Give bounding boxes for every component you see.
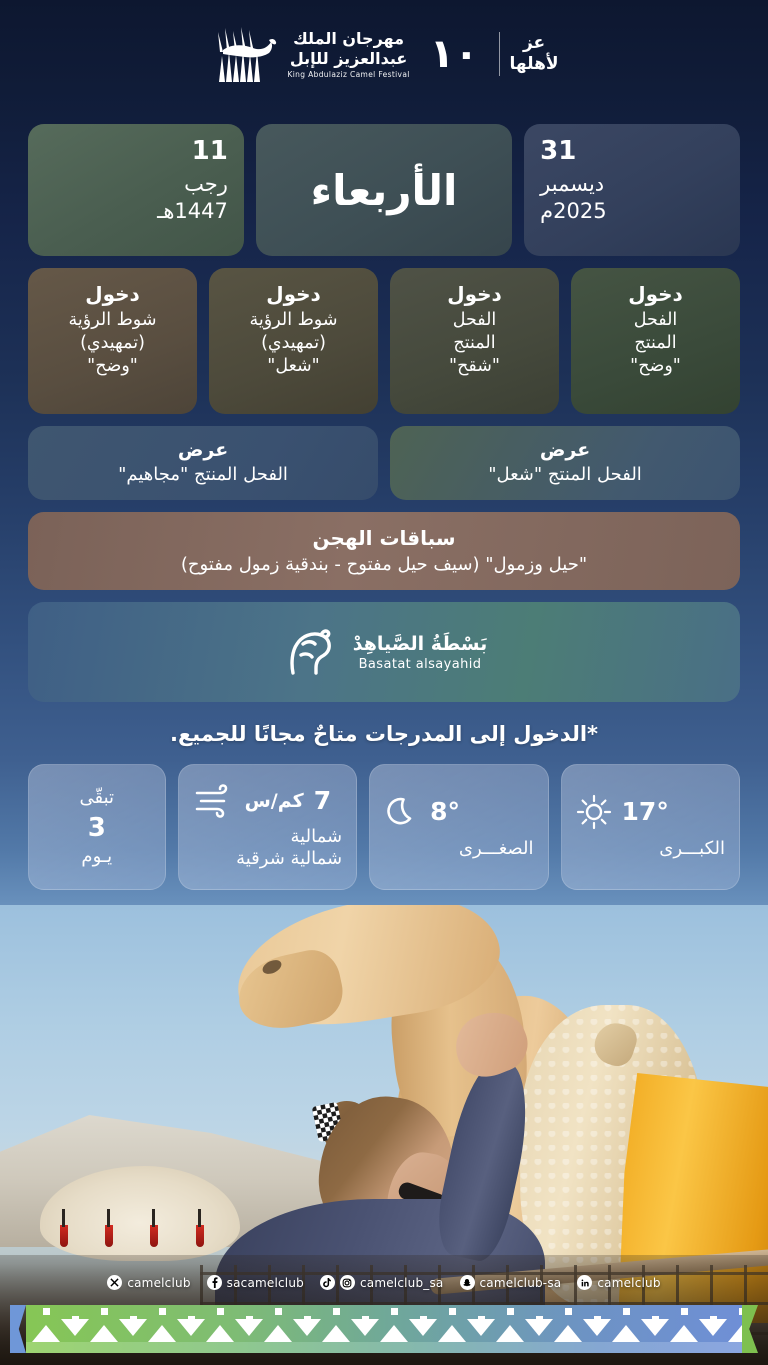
countdown-card: تبقّى 3 يـوم [28, 764, 166, 890]
entry-event-heading: دخول [266, 282, 321, 306]
sadu-triangle [148, 1325, 176, 1342]
countdown-number: 3 [88, 810, 106, 846]
tiktok-icon [320, 1275, 335, 1290]
entry-event-detail: شوط الرؤية (تمهيدي) "شعل" [250, 309, 338, 378]
sadu-square [594, 1316, 601, 1323]
sponsor-row: بَسْطَةُ الصَّياهِدْ Basatat alsayahid [28, 602, 740, 702]
race-row: سباقات الهجن "حيل وزمول" (سيف حيل مفتوح … [28, 512, 740, 590]
camel-herd-icon [209, 26, 277, 82]
x-twitter-icon [107, 1275, 122, 1290]
sadu-decorative-band [10, 1305, 758, 1353]
race-detail: "حيل وزمول" (سيف حيل مفتوح - بندقية زمول… [181, 553, 587, 577]
sadu-square [739, 1308, 742, 1315]
weather-max-value: 17° [622, 799, 669, 824]
sadu-triangle [728, 1325, 742, 1342]
sadu-pattern [26, 1305, 742, 1342]
logo-name-ar-line2: عبدالعزيز للإبل [287, 49, 409, 69]
sadu-square [101, 1308, 108, 1315]
social-link-linkedin[interactable]: camelclub [577, 1275, 660, 1290]
festival-schedule-poster: عز لأهلها ١٠ مهرجان الملك عبدالعزيز للإب… [0, 0, 768, 1365]
hijri-year: 1447هـ [44, 198, 228, 224]
entry-event-heading: دخول [85, 282, 140, 306]
sadu-bottom-stripe [26, 1342, 742, 1353]
sadu-triangle [554, 1325, 582, 1342]
sponsor-name-ar: بَسْطَةُ الصَّياهِدْ [353, 633, 488, 655]
social-handle-linkedin: camelclub [597, 1276, 660, 1290]
sponsor-name-en: Basatat alsayahid [353, 657, 488, 672]
weather-wind-card: 7 كم/س شمالية شمالية شرقية [178, 764, 357, 890]
red-tassel [105, 1225, 113, 1247]
sadu-square [246, 1316, 253, 1323]
sadu-square [565, 1308, 572, 1315]
entry-events-row: دخول الفحل المنتج "وضح" دخول الفحل المنت… [28, 268, 740, 414]
gregorian-day: 31 [540, 138, 724, 165]
logo-edition-number: ١٠ [420, 34, 489, 74]
entry-event-detail: الفحل المنتج "شقح" [449, 309, 500, 378]
social-handle-tiktok-instagram: camelclub_sa [360, 1276, 444, 1290]
gregorian-date-card: 31 ديسمبر 2025م [524, 124, 740, 256]
sadu-triangle [670, 1325, 698, 1342]
hijri-day: 11 [44, 138, 228, 165]
sadu-square [159, 1308, 166, 1315]
sadu-arrow-right [10, 1305, 26, 1353]
sadu-triangle [496, 1325, 524, 1342]
sadu-square [681, 1308, 688, 1315]
show-event-detail: الفحل المنتج "شعل" [488, 463, 642, 487]
gregorian-month: ديسمبر [540, 171, 724, 197]
social-link-snapchat[interactable]: camelclub-sa [460, 1275, 562, 1290]
instagram-icon [340, 1275, 355, 1290]
weather-min-temp-card: 8° الصغـــرى [369, 764, 548, 890]
entry-event-card[interactable]: دخول شوط الرؤية (تمهيدي) "وضح" [28, 268, 197, 414]
show-event-card[interactable]: عرض الفحل المنتج "مجاهيم" [28, 426, 378, 500]
sadu-triangle [206, 1325, 234, 1342]
social-link-tiktok-instagram[interactable]: camelclub_sa [320, 1275, 444, 1290]
red-tassel [150, 1225, 158, 1247]
logo-name-ar-line1: مهرجان الملك [287, 29, 409, 49]
sadu-square [536, 1316, 543, 1323]
logo-slogan: عز لأهلها [510, 33, 559, 76]
entry-event-heading: دخول [628, 282, 683, 306]
social-link-x[interactable]: camelclub [107, 1275, 190, 1290]
sadu-square [623, 1308, 630, 1315]
sadu-triangle [380, 1325, 408, 1342]
sponsor-card[interactable]: بَسْطَةُ الصَّياهِدْ Basatat alsayahid [28, 602, 740, 702]
social-link-facebook[interactable]: sacamelclub [207, 1275, 304, 1290]
weather-wind-unit: كم/س [245, 790, 304, 812]
sadu-square [188, 1316, 195, 1323]
show-event-card[interactable]: عرض الفحل المنتج "شعل" [390, 426, 740, 500]
moon-icon [384, 794, 420, 830]
social-handle-facebook: sacamelclub [227, 1276, 304, 1290]
weather-min-value: 8° [430, 799, 460, 824]
sadu-triangle [90, 1325, 118, 1342]
entry-event-heading: دخول [447, 282, 502, 306]
camel-race-card[interactable]: سباقات الهجن "حيل وزمول" (سيف حيل مفتوح … [28, 512, 740, 590]
logo-wordmark: مهرجان الملك عبدالعزيز للإبل King Abdula… [287, 29, 409, 79]
date-row: 31 ديسمبر 2025م الأربعاء 11 رجب 1447هـ [28, 124, 740, 256]
sadu-square [130, 1316, 137, 1323]
sadu-square [362, 1316, 369, 1323]
entry-event-card[interactable]: دخول الفحل المنتج "شقح" [390, 268, 559, 414]
social-handle-x: camelclub [127, 1276, 190, 1290]
sadu-square [72, 1316, 79, 1323]
show-event-detail: الفحل المنتج "مجاهيم" [118, 463, 288, 487]
sadu-square [275, 1308, 282, 1315]
sadu-square [507, 1308, 514, 1315]
sadu-square [449, 1308, 456, 1315]
sadu-square [420, 1316, 427, 1323]
countdown-unit: يـوم [81, 846, 112, 867]
weather-max-temp-card: 17° الكبـــرى [561, 764, 740, 890]
sadu-triangle [32, 1325, 60, 1342]
free-entry-note: *الدخول إلى المدرجات متاحٌ مجانًا للجميع… [28, 722, 740, 746]
logo-divider [499, 32, 500, 76]
sponsor-text: بَسْطَةُ الصَّياهِدْ Basatat alsayahid [353, 633, 488, 672]
social-handle-snapchat: camelclub-sa [480, 1276, 562, 1290]
wind-icon [193, 784, 235, 818]
entry-event-card[interactable]: دخول شوط الرؤية (تمهيدي) "شعل" [209, 268, 378, 414]
sadu-pattern-band [26, 1305, 742, 1353]
hijri-month: رجب [44, 171, 228, 197]
schedule-content: 31 ديسمبر 2025م الأربعاء 11 رجب 1447هـ د… [28, 124, 740, 890]
red-tassel [60, 1225, 68, 1247]
entry-event-card[interactable]: دخول الفحل المنتج "وضح" [571, 268, 740, 414]
sadu-triangle [264, 1325, 292, 1342]
day-name-card: الأربعاء [256, 124, 512, 256]
social-media-row: camelclub sacamelclub camelclub_sa [0, 1275, 768, 1290]
hijri-date-card: 11 رجب 1447هـ [28, 124, 244, 256]
gregorian-year: 2025م [540, 198, 724, 224]
red-tassel [196, 1225, 204, 1247]
logo-name-en: King Abdulaziz Camel Festival [287, 70, 409, 79]
day-name: الأربعاء [311, 166, 458, 215]
sadu-triangle [322, 1325, 350, 1342]
sadu-arrow-left [742, 1305, 758, 1353]
sadu-square [43, 1308, 50, 1315]
sadu-square [333, 1308, 340, 1315]
sadu-square [478, 1316, 485, 1323]
sadu-square [710, 1316, 717, 1323]
camel-head-logo-icon [281, 623, 339, 681]
festival-photograph [0, 905, 768, 1365]
show-events-row: عرض الفحل المنتج "شعل" عرض الفحل المنتج … [28, 426, 740, 500]
sadu-triangle [438, 1325, 466, 1342]
weather-max-label: الكبـــرى [576, 838, 725, 861]
sadu-square [304, 1316, 311, 1323]
entry-event-detail: شوط الرؤية (تمهيدي) "وضح" [69, 309, 157, 378]
weather-wind-direction: شمالية شمالية شرقية [193, 826, 342, 871]
weather-row: 17° الكبـــرى 8° [28, 764, 740, 890]
show-event-heading: عرض [178, 439, 228, 462]
show-event-heading: عرض [540, 439, 590, 462]
festival-logo: عز لأهلها ١٠ مهرجان الملك عبدالعزيز للإب… [0, 26, 768, 82]
sadu-square [652, 1316, 659, 1323]
weather-min-label: الصغـــرى [384, 838, 533, 861]
countdown-prefix: تبقّى [80, 787, 115, 810]
sun-icon [576, 794, 612, 830]
weather-wind-value: 7 [314, 788, 331, 813]
snapchat-icon [460, 1275, 475, 1290]
sadu-square [391, 1308, 398, 1315]
sadu-triangle [612, 1325, 640, 1342]
facebook-icon [207, 1275, 222, 1290]
sadu-square [217, 1308, 224, 1315]
entry-event-detail: الفحل المنتج "وضح" [630, 309, 681, 378]
race-heading: سباقات الهجن [313, 526, 456, 550]
linkedin-icon [577, 1275, 592, 1290]
